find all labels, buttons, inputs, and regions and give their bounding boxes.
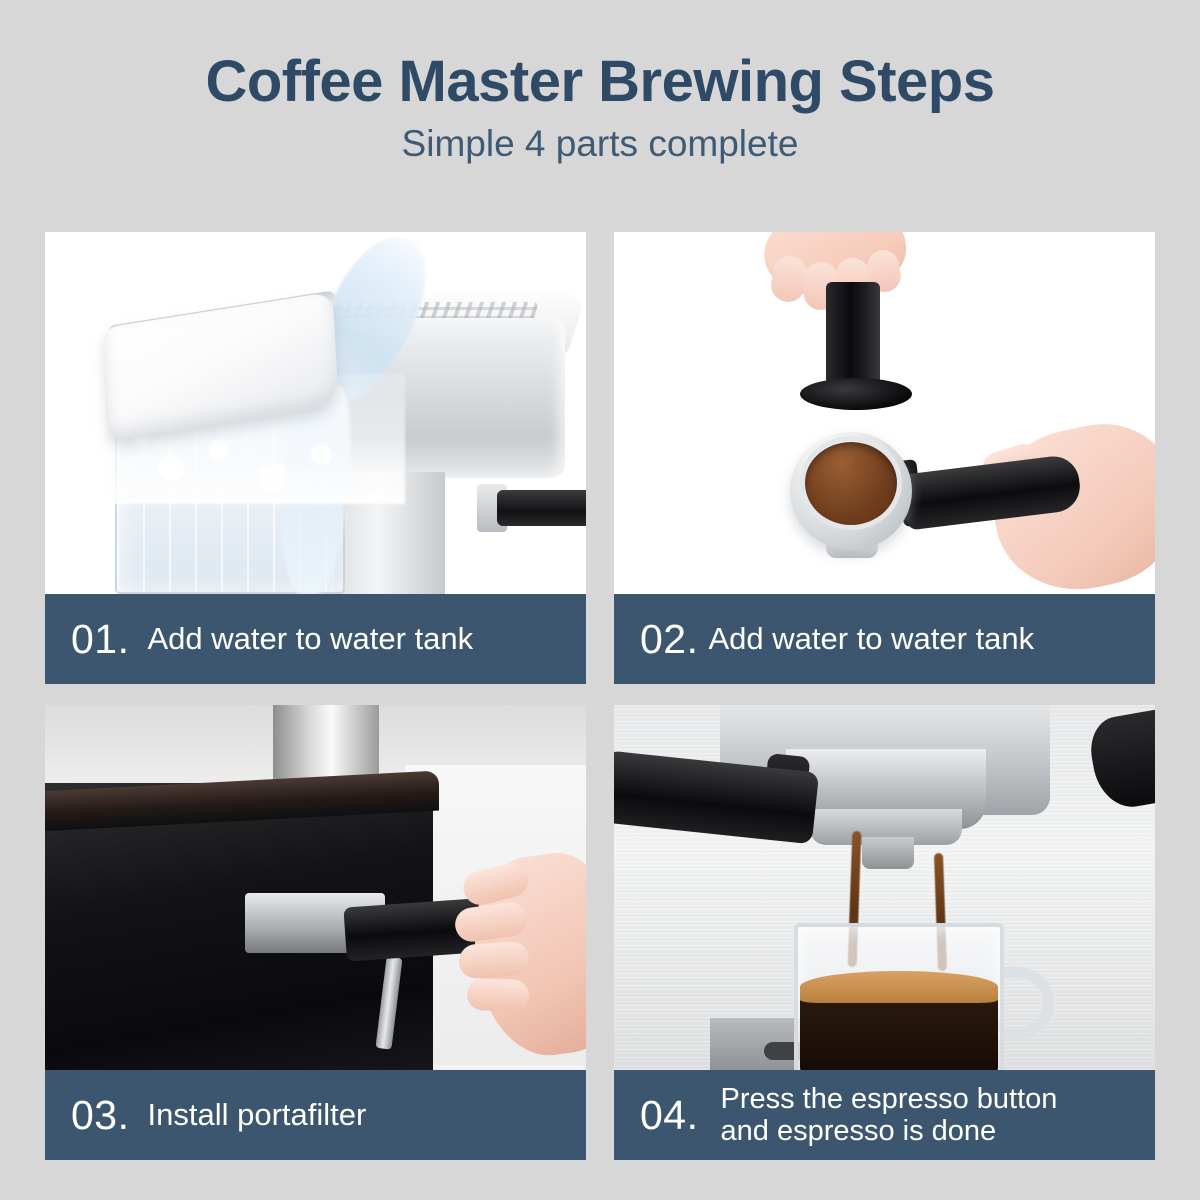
finger xyxy=(466,978,529,1012)
step-card-04[interactable]: 04. Press the espresso button and espres… xyxy=(614,705,1155,1160)
page-title: Coffee Master Brewing Steps xyxy=(0,52,1200,113)
water-tank-filling-photo: MAX xyxy=(45,232,586,594)
step-text-02: Add water to water tank xyxy=(709,622,1035,657)
espresso-crema xyxy=(800,971,998,1003)
step-number-01: 01. xyxy=(71,619,130,660)
step-caption-01: 01. Add water to water tank xyxy=(45,594,586,684)
page-subtitle: Simple 4 parts complete xyxy=(0,123,1200,165)
portafilter-spout-block xyxy=(862,837,914,869)
steps-grid: MAX 01. Add water to water tank xyxy=(45,232,1155,1160)
step-card-02[interactable]: 02. Add water to water tank xyxy=(614,232,1155,684)
step-caption-03: 03. Install portafilter xyxy=(45,1070,586,1160)
basket-rim xyxy=(800,436,902,530)
step-text-03: Install portafilter xyxy=(148,1098,367,1133)
page-header: Coffee Master Brewing Steps Simple 4 par… xyxy=(0,0,1200,200)
step-text-04-line1: Press the espresso button xyxy=(721,1083,1058,1115)
steam-wand xyxy=(497,490,586,526)
step-text-01: Add water to water tank xyxy=(148,622,474,657)
step-number-02: 02. xyxy=(640,619,699,660)
espresso-liquid xyxy=(800,997,998,1070)
tamping-coffee-grounds-photo xyxy=(614,232,1155,594)
step-text-04: Press the espresso button and espresso i… xyxy=(721,1083,1058,1148)
step-number-04: 04. xyxy=(640,1095,699,1136)
step-card-03[interactable]: 03. Install portafilter xyxy=(45,705,586,1160)
step-caption-04: 04. Press the espresso button and espres… xyxy=(614,1070,1155,1160)
espresso-extraction-photo xyxy=(614,705,1155,1070)
installing-portafilter-photo xyxy=(45,705,586,1070)
finger xyxy=(458,941,530,980)
step-number-03: 03. xyxy=(71,1095,130,1136)
step-caption-02: 02. Add water to water tank xyxy=(614,594,1155,684)
tamper-base xyxy=(800,378,912,410)
step-text-04-line2: and espresso is done xyxy=(721,1115,1058,1147)
step-card-01[interactable]: MAX 01. Add water to water tank xyxy=(45,232,586,684)
